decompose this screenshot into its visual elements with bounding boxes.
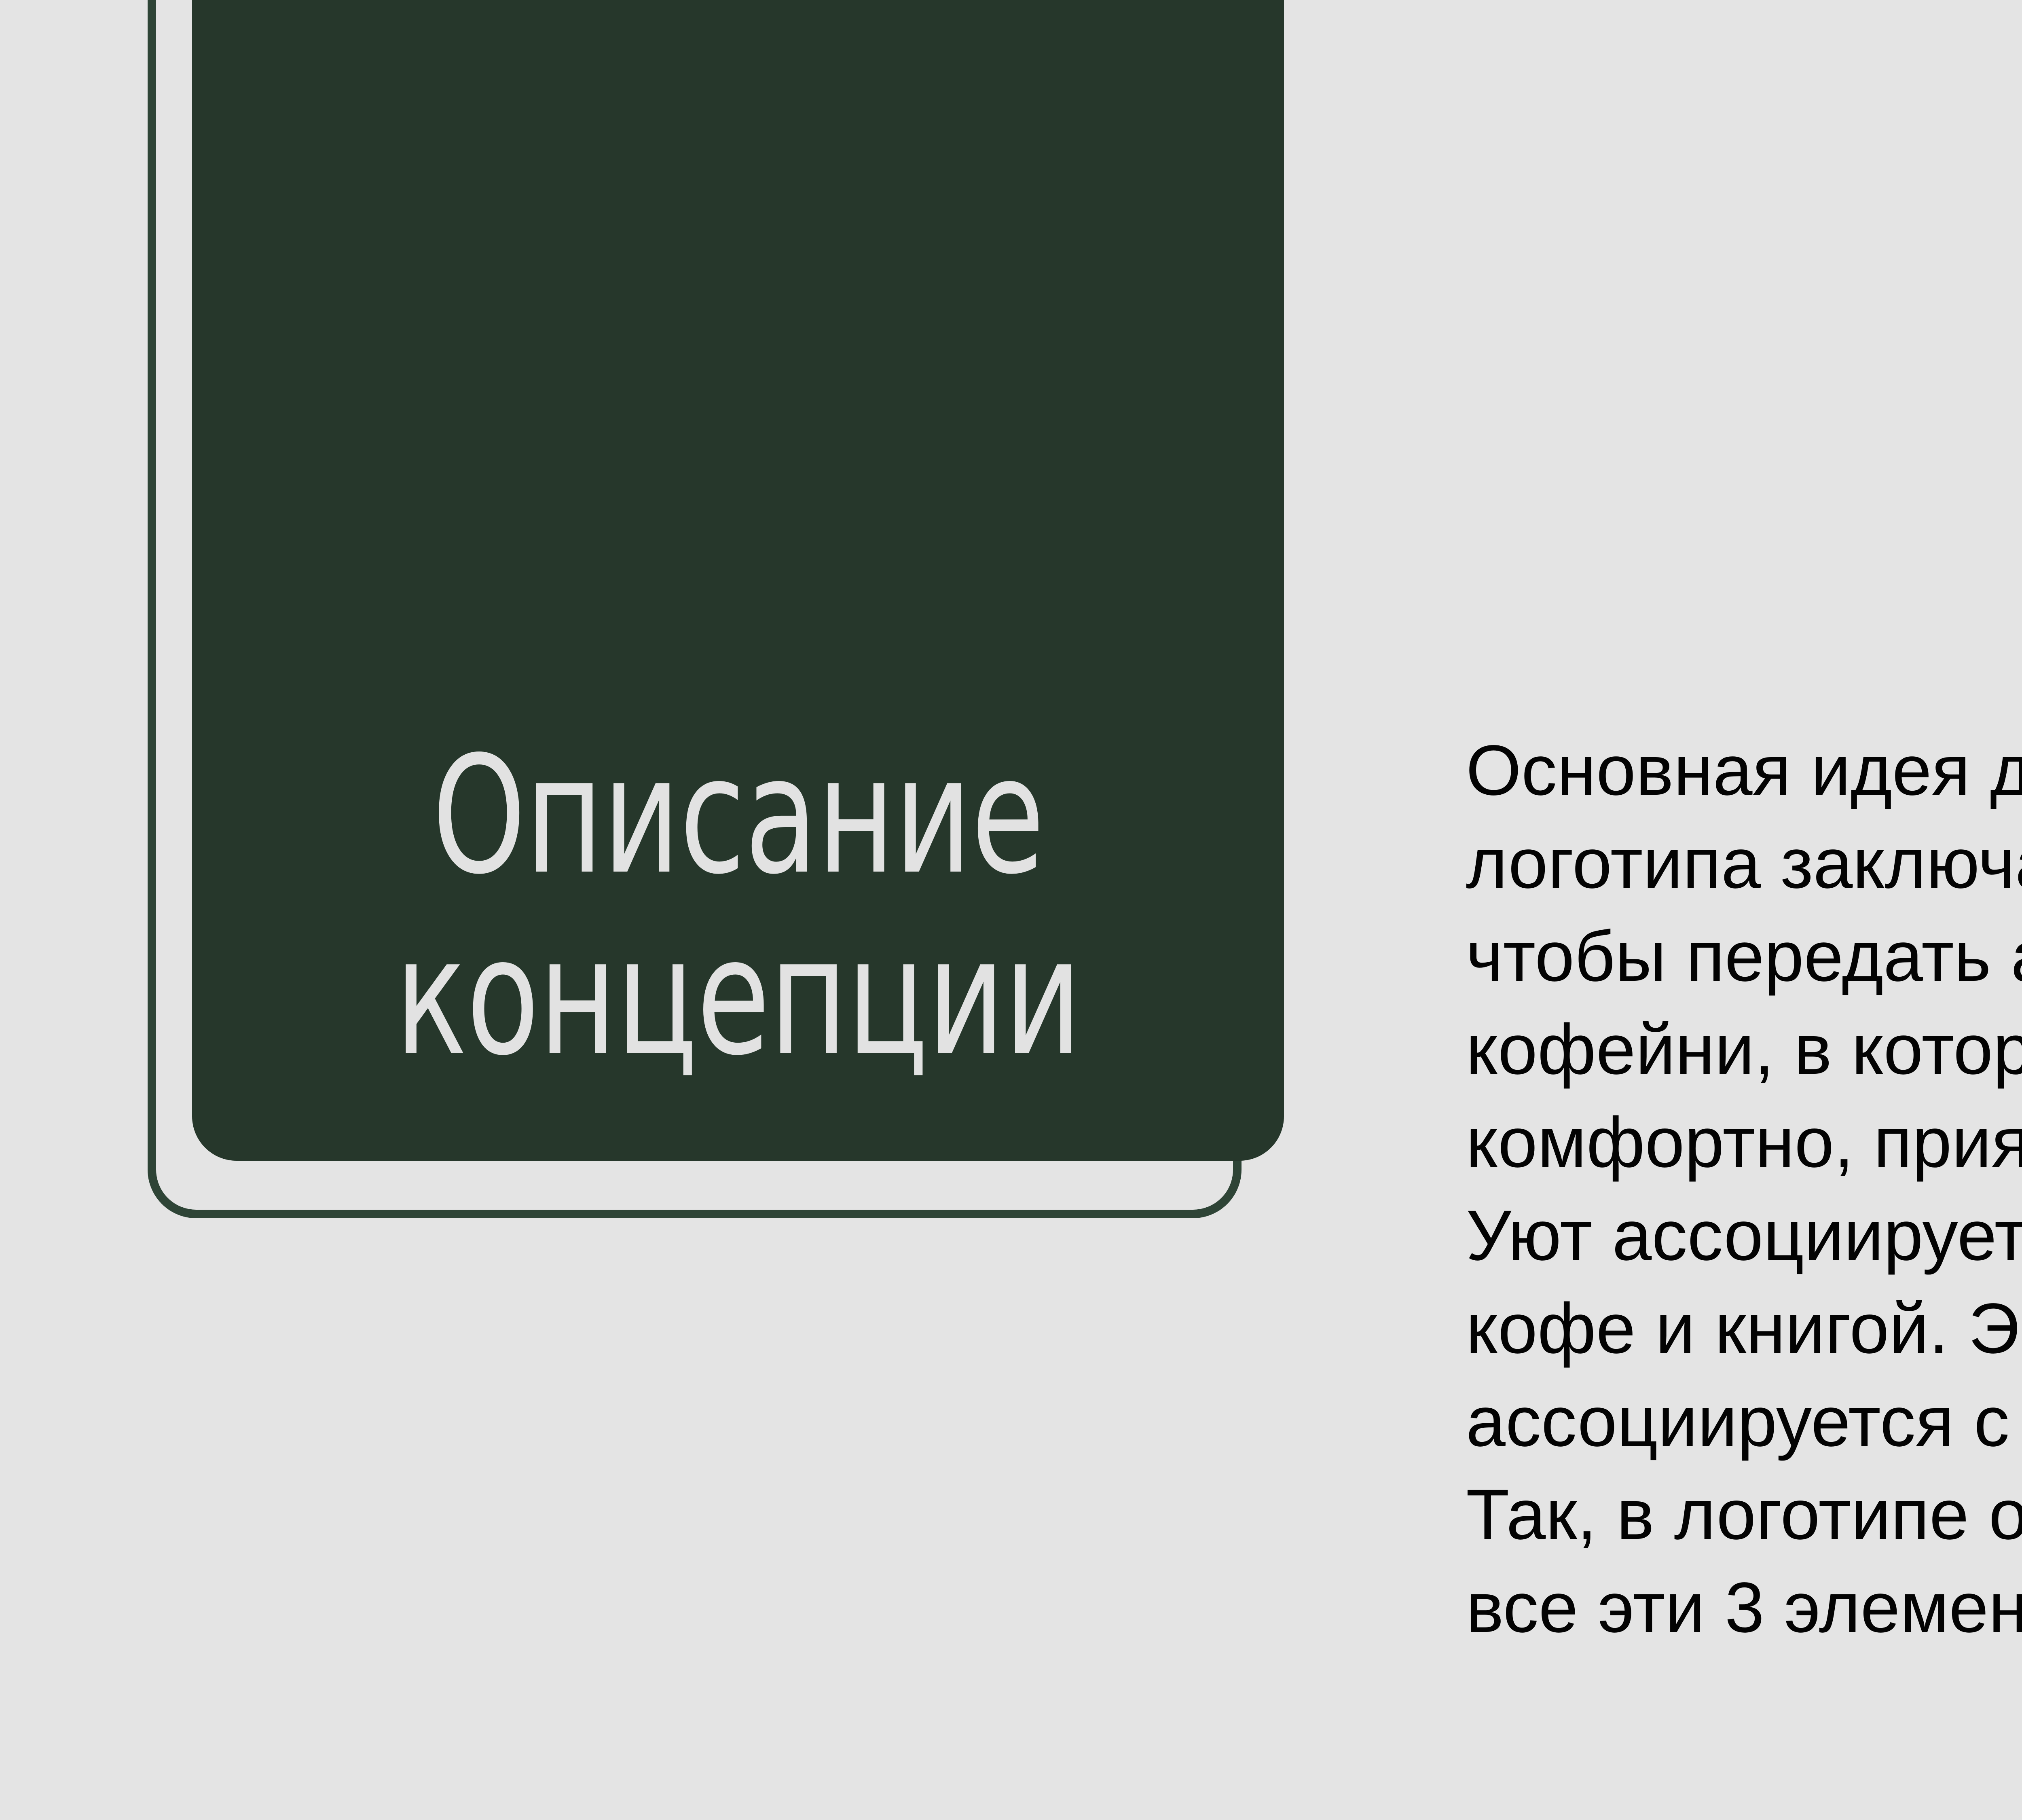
concept-description-paragraph: Основная идея дизайна логотипа заключает… [1466,724,2022,1654]
page-title: Описание концепции [290,726,1186,1088]
slide-canvas: Описание концепции Основная идея дизайна… [0,0,2022,1820]
title-card-stack: Описание концепции [0,0,1375,1254]
title-card-filled-shape: Описание концепции [192,0,1284,1161]
